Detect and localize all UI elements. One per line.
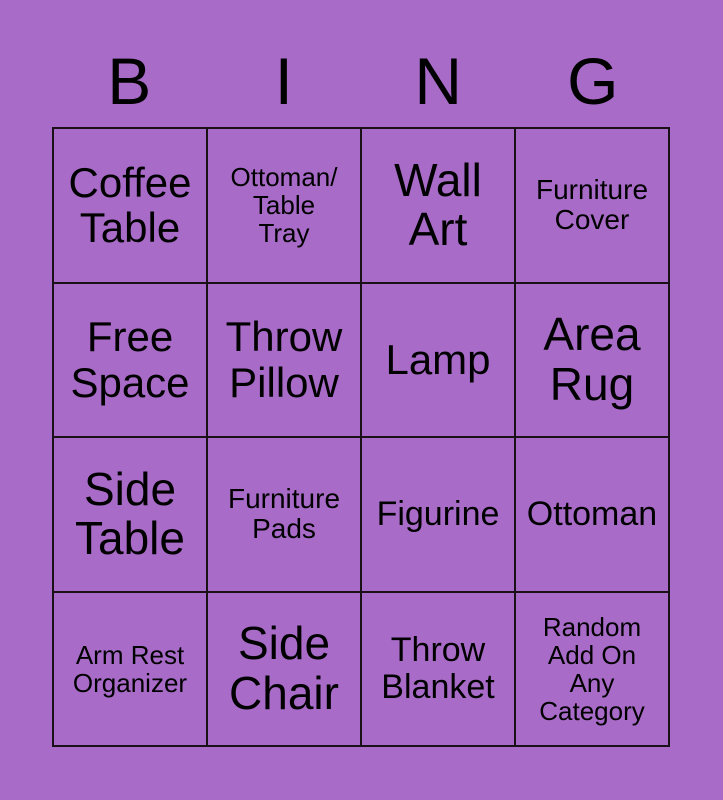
header-letter-n: N <box>361 48 516 114</box>
bingo-cell-label: Furniture Cover <box>520 175 664 235</box>
bingo-cell-label: Ottoman <box>520 496 664 533</box>
bingo-cell-label: Free Space <box>58 314 202 405</box>
bingo-cell[interactable]: Ottoman/ Table Tray <box>208 129 362 284</box>
bingo-cell-label: Arm Rest Organizer <box>58 641 202 697</box>
header-letter-b: B <box>52 48 207 114</box>
bingo-card: B I N G Coffee Table Ottoman/ Table Tray… <box>0 0 723 800</box>
bingo-cell-label: Wall Art <box>366 156 510 255</box>
header-letter-i: I <box>207 48 362 114</box>
bingo-cell[interactable]: Arm Rest Organizer <box>54 593 208 748</box>
bingo-cell-label: Ottoman/ Table Tray <box>212 163 356 247</box>
bingo-cell[interactable]: Side Table <box>54 438 208 593</box>
bingo-cell[interactable]: Free Space <box>54 284 208 439</box>
bingo-cell[interactable]: Lamp <box>362 284 516 439</box>
bingo-cell-label: Coffee Table <box>58 160 202 251</box>
bingo-cell[interactable]: Wall Art <box>362 129 516 284</box>
bingo-cell[interactable]: Figurine <box>362 438 516 593</box>
bingo-cell[interactable]: Coffee Table <box>54 129 208 284</box>
bingo-cell[interactable]: Side Chair <box>208 593 362 748</box>
bingo-cell-label: Furniture Pads <box>212 484 356 544</box>
bingo-cell[interactable]: Furniture Pads <box>208 438 362 593</box>
bingo-header: B I N G <box>52 44 670 118</box>
bingo-cell[interactable]: Throw Blanket <box>362 593 516 748</box>
bingo-cell-label: Side Chair <box>212 619 356 718</box>
header-letter-g: G <box>516 48 671 114</box>
bingo-cell-label: Lamp <box>366 337 510 382</box>
bingo-cell[interactable]: Area Rug <box>516 284 670 439</box>
bingo-cell[interactable]: Throw Pillow <box>208 284 362 439</box>
bingo-cell-label: Throw Pillow <box>212 314 356 405</box>
bingo-cell-label: Side Table <box>58 465 202 564</box>
bingo-cell-label: Random Add On Any Category <box>520 613 664 725</box>
bingo-cell[interactable]: Furniture Cover <box>516 129 670 284</box>
bingo-cell-label: Figurine <box>366 496 510 533</box>
bingo-cell-label: Area Rug <box>520 310 664 409</box>
bingo-cell[interactable]: Ottoman <box>516 438 670 593</box>
bingo-grid: Coffee Table Ottoman/ Table Tray Wall Ar… <box>52 127 670 747</box>
bingo-cell[interactable]: Random Add On Any Category <box>516 593 670 748</box>
bingo-cell-label: Throw Blanket <box>366 632 510 705</box>
